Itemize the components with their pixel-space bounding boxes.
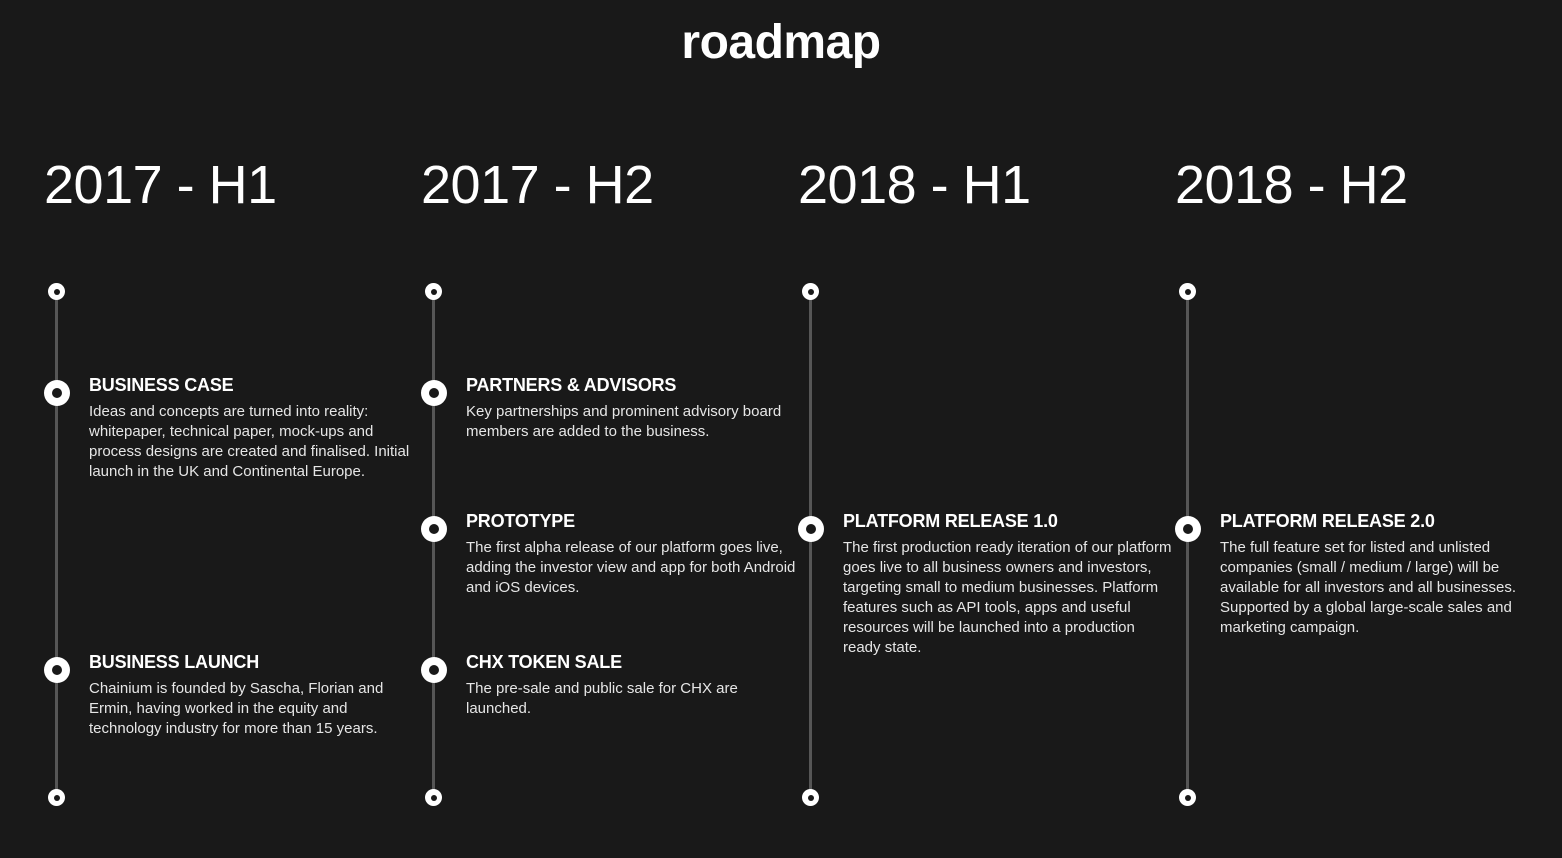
milestone-node-icon <box>1175 516 1201 542</box>
timeline-end-node-icon <box>1179 789 1196 806</box>
page-title: roadmap <box>0 12 1562 74</box>
milestone-title: BUSINESS CASE <box>89 374 419 396</box>
milestone-node-icon <box>421 516 447 542</box>
timeline-start-node-icon <box>1179 283 1196 300</box>
timeline-start-node-icon <box>48 283 65 300</box>
roadmap-column-2017-h2: 2017 - H2 PARTNERS & ADVISORS Key partne… <box>419 152 795 858</box>
milestone-node-icon <box>421 380 447 406</box>
milestone-description: Chainium is founded by Sascha, Florian a… <box>89 679 419 739</box>
milestone-item: CHX TOKEN SALE The pre-sale and public s… <box>466 651 796 719</box>
milestone-title: BUSINESS LAUNCH <box>89 651 419 673</box>
column-heading: 2018 - H2 <box>1175 152 1408 218</box>
milestone-node-icon <box>798 516 824 542</box>
timeline-end-node-icon <box>48 789 65 806</box>
milestone-description: Key partnerships and prominent advisory … <box>466 402 796 442</box>
column-heading: 2018 - H1 <box>798 152 1031 218</box>
roadmap-columns: 2017 - H1 BUSINESS CASE Ideas and concep… <box>0 152 1562 858</box>
milestone-item: PROTOTYPE The first alpha release of our… <box>466 510 796 598</box>
milestone-description: The first production ready iteration of … <box>843 538 1173 658</box>
milestone-description: The full feature set for listed and unli… <box>1220 538 1550 638</box>
timeline-end-node-icon <box>425 789 442 806</box>
timeline-spine <box>432 292 435 798</box>
milestone-description: Ideas and concepts are turned into reali… <box>89 402 419 482</box>
milestone-node-icon <box>421 657 447 683</box>
roadmap-column-2018-h1: 2018 - H1 PLATFORM RELEASE 1.0 The first… <box>796 152 1172 858</box>
milestone-node-icon <box>44 657 70 683</box>
milestone-title: PLATFORM RELEASE 1.0 <box>843 510 1173 532</box>
milestone-node-icon <box>44 380 70 406</box>
milestone-title: PROTOTYPE <box>466 510 796 532</box>
column-heading: 2017 - H2 <box>421 152 654 218</box>
milestone-title: PARTNERS & ADVISORS <box>466 374 796 396</box>
milestone-title: CHX TOKEN SALE <box>466 651 796 673</box>
milestone-item: PLATFORM RELEASE 1.0 The first productio… <box>843 510 1173 658</box>
roadmap-column-2018-h2: 2018 - H2 PLATFORM RELEASE 2.0 The full … <box>1173 152 1549 858</box>
roadmap-page: roadmap 2017 - H1 BUSINESS CASE Ideas an… <box>0 0 1562 858</box>
milestone-item: BUSINESS CASE Ideas and concepts are tur… <box>89 374 419 482</box>
timeline-spine <box>809 292 812 798</box>
timeline-end-node-icon <box>802 789 819 806</box>
timeline-start-node-icon <box>802 283 819 300</box>
milestone-item: BUSINESS LAUNCH Chainium is founded by S… <box>89 651 419 739</box>
timeline-start-node-icon <box>425 283 442 300</box>
milestone-description: The pre-sale and public sale for CHX are… <box>466 679 796 719</box>
milestone-description: The first alpha release of our platform … <box>466 538 796 598</box>
milestone-item: PLATFORM RELEASE 2.0 The full feature se… <box>1220 510 1550 638</box>
roadmap-column-2017-h1: 2017 - H1 BUSINESS CASE Ideas and concep… <box>42 152 418 858</box>
timeline-spine <box>1186 292 1189 798</box>
timeline-spine <box>55 292 58 798</box>
milestone-title: PLATFORM RELEASE 2.0 <box>1220 510 1550 532</box>
milestone-item: PARTNERS & ADVISORS Key partnerships and… <box>466 374 796 442</box>
column-heading: 2017 - H1 <box>44 152 277 218</box>
